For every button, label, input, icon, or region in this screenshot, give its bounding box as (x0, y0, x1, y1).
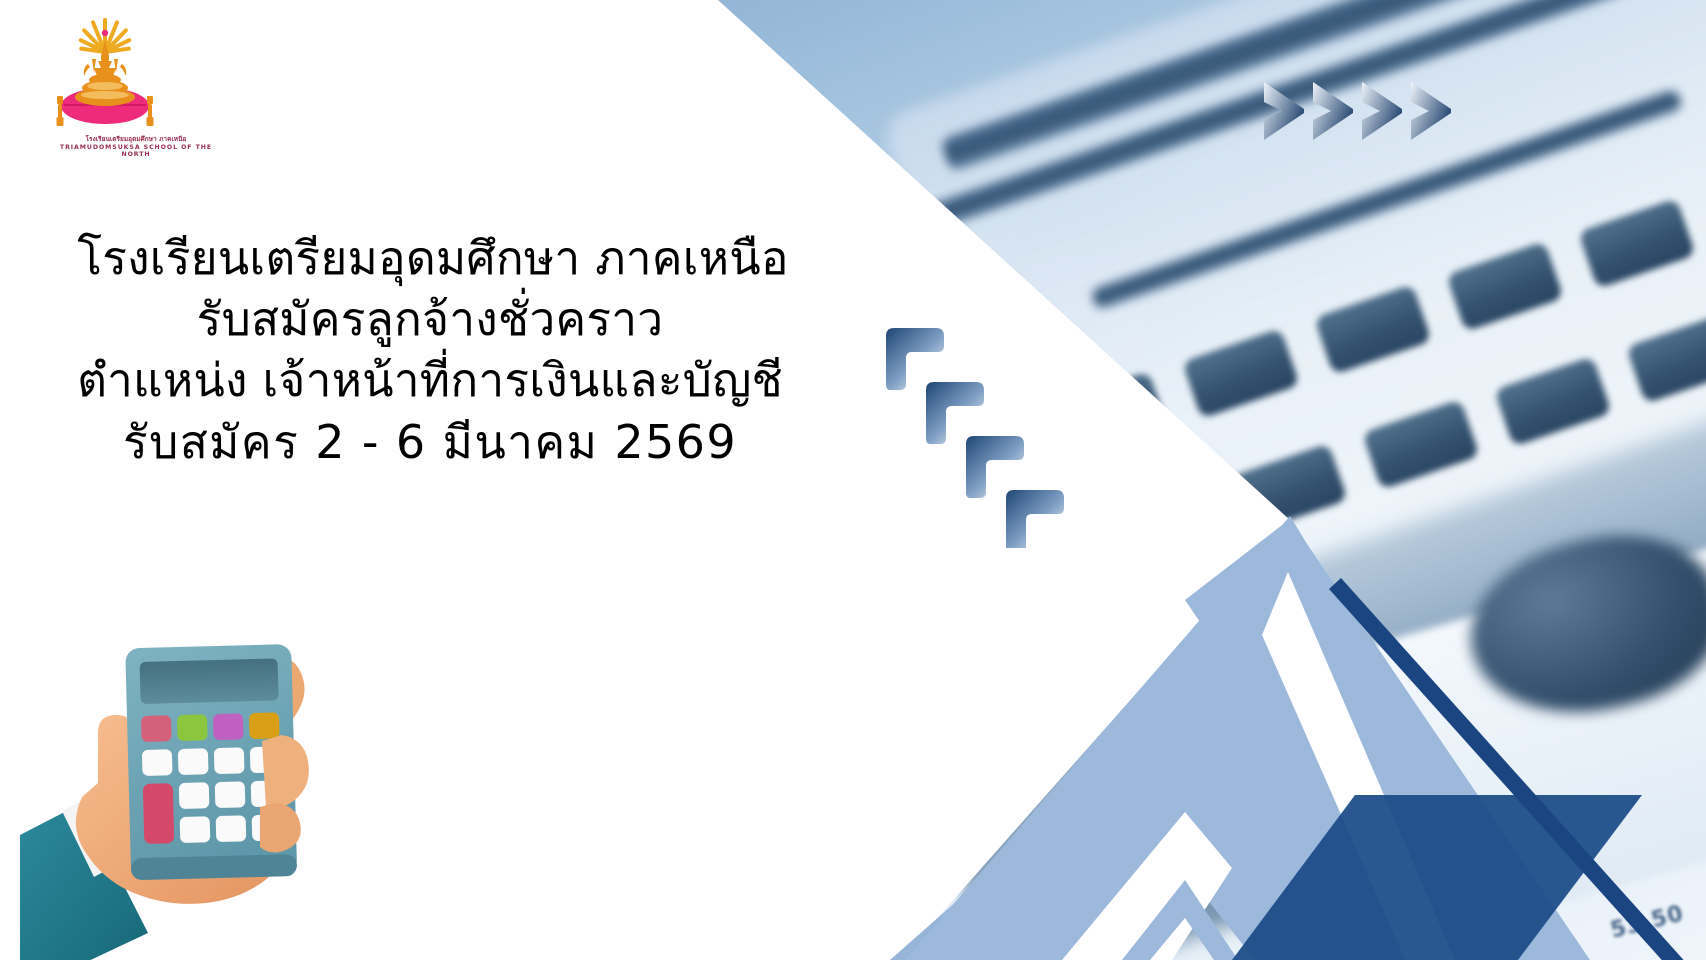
chevron-right-icon (1360, 80, 1404, 142)
calculator-key-white (178, 748, 209, 775)
headline-line-1: โรงเรียนเตรียมอุดมศึกษา ภาคเหนือ (6, 228, 860, 289)
calculator-key (1098, 486, 1216, 577)
corner-chevron-cascade (868, 318, 1088, 548)
fingers (262, 735, 309, 808)
chevron-right-icon (1262, 80, 1306, 142)
calculator-key-white (142, 749, 173, 776)
chevron-right-icon (1311, 80, 1355, 142)
calculator-key-white (215, 781, 246, 808)
logo-english-caption: TRIAMUDOMSUKSA SCHOOL OF THE NORTH (46, 144, 226, 158)
hand-holding-calculator-illustration (20, 535, 350, 960)
logo-caption: โรงเรียนเตรียมอุดมศึกษา ภาคเหนือ TRIAMUD… (46, 136, 226, 159)
headline-block: โรงเรียนเตรียมอุดมศึกษา ภาคเหนือ รับสมัค… (0, 228, 860, 473)
calculator-key-white (216, 815, 247, 842)
calculator-key-purple (213, 713, 244, 740)
calculator-key-gold (249, 712, 280, 739)
calculator-key-white (180, 816, 211, 843)
school-logo: โรงเรียนเตรียมอุดมศึกษา ภาคเหนือ TRIAMUD… (30, 10, 180, 160)
logo-thai-caption: โรงเรียนเตรียมอุดมศึกษา ภาคเหนือ (46, 136, 226, 143)
headline-line-3: ตำแหน่ง เจ้าหน้าที่การเงินและบัญชี (0, 350, 860, 411)
poster-canvas: 53.50 (0, 0, 1706, 960)
calculator-key-green (177, 714, 208, 741)
calculator-key-white (179, 782, 210, 809)
calculator-key-pink (141, 715, 172, 742)
calculator-body-edge (131, 854, 298, 880)
chevron-right-icon (1409, 80, 1453, 142)
headline-line-2: รับสมัครลูกจ้างชั่วคราว (0, 289, 860, 350)
headline-line-4: รับสมัคร 2 - 6 มีนาคม 2569 (0, 412, 860, 473)
top-right-chevron-group (1262, 80, 1453, 142)
calculator-key-accent (143, 783, 175, 844)
calculator-key-white (214, 747, 245, 774)
calculator-screen (140, 658, 279, 704)
